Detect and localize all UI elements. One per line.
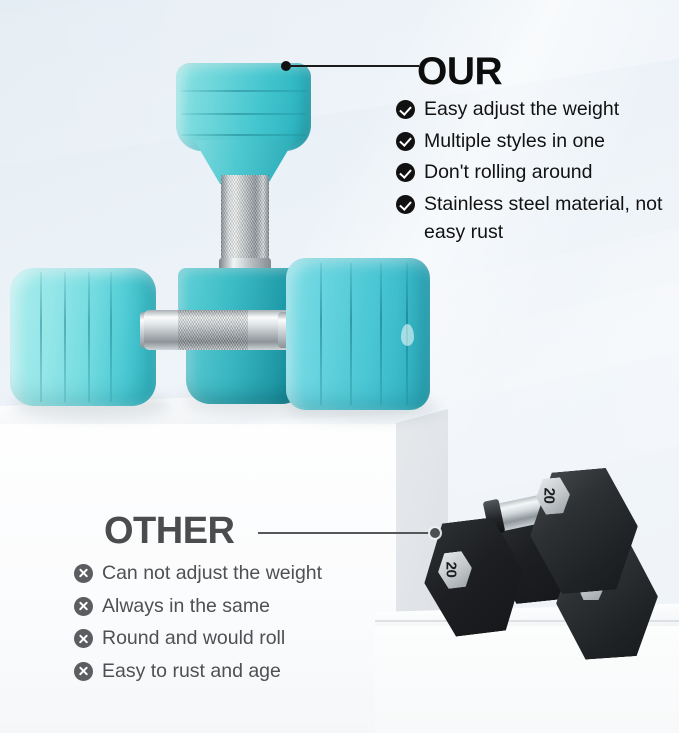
our-feature-list: Easy adjust the weight Multiple styles i…	[396, 96, 676, 250]
other-feature-label: Can not adjust the weight	[102, 560, 322, 588]
chrome-shaft-vertical	[221, 175, 269, 271]
x-circle-icon	[74, 564, 93, 583]
other-feature-item: Can not adjust the weight	[74, 560, 394, 588]
callout-leader-other	[258, 532, 434, 534]
our-feature-label: Easy adjust the weight	[424, 96, 619, 124]
other-feature-label: Round and would roll	[102, 625, 285, 653]
check-circle-icon	[396, 163, 415, 182]
callout-dot-other	[430, 528, 440, 538]
other-feature-label: Easy to rust and age	[102, 658, 281, 686]
our-feature-item: Don't rolling around	[396, 159, 676, 187]
our-feature-label: Multiple styles in one	[424, 128, 605, 156]
brand-logo-mark	[401, 324, 414, 346]
check-circle-icon	[396, 195, 415, 214]
check-circle-icon	[396, 100, 415, 119]
chrome-handle-horizontal	[144, 310, 294, 350]
hex-weight-label-right: 20	[540, 487, 558, 503]
teal-plate-stack-right	[286, 258, 430, 410]
x-circle-icon	[74, 662, 93, 681]
our-title: OUR	[417, 52, 502, 91]
our-feature-label: Stainless steel material, not easy rust	[424, 191, 676, 246]
hex-weight-label-left: 20	[442, 562, 459, 578]
our-feature-label: Don't rolling around	[424, 159, 593, 187]
other-feature-list: Can not adjust the weight Always in the …	[74, 560, 394, 691]
our-feature-item: Easy adjust the weight	[396, 96, 676, 124]
infographic-canvas: 20 20 OUR Easy adjust the weight Multipl…	[0, 0, 679, 733]
our-feature-item: Stainless steel material, not easy rust	[396, 191, 676, 246]
other-feature-item: Round and would roll	[74, 625, 394, 653]
our-feature-item: Multiple styles in one	[396, 128, 676, 156]
other-feature-item: Always in the same	[74, 593, 394, 621]
callout-leader-our	[289, 65, 419, 67]
x-circle-icon	[74, 597, 93, 616]
teal-plate-stack-top	[176, 63, 311, 151]
check-circle-icon	[396, 132, 415, 151]
other-title: OTHER	[104, 512, 235, 550]
x-circle-icon	[74, 629, 93, 648]
other-feature-item: Easy to rust and age	[74, 658, 394, 686]
other-feature-label: Always in the same	[102, 593, 270, 621]
teal-plate-stack-left	[10, 268, 156, 406]
